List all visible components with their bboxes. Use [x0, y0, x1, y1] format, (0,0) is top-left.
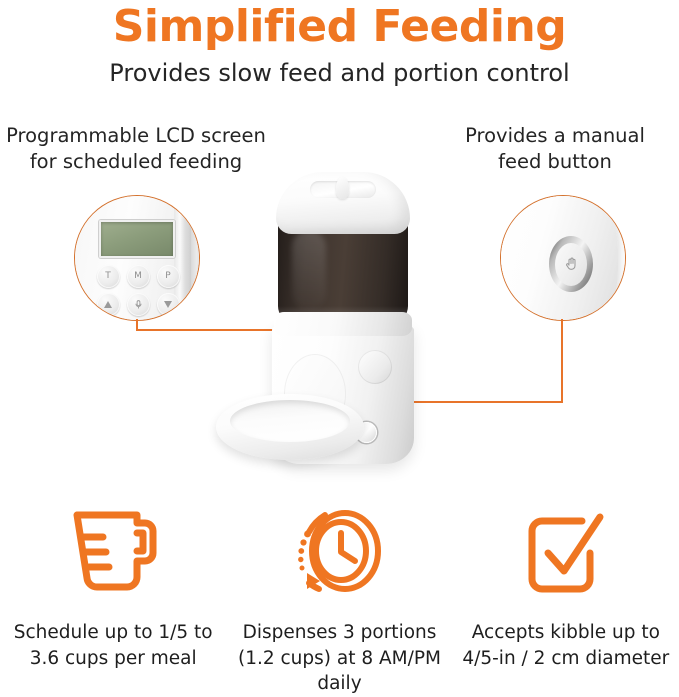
page-subtitle: Provides slow feed and portion control: [0, 50, 679, 88]
feature-caption-dispense: Dispenses 3 portions (1.2 cups) at 8 AM/…: [226, 620, 452, 697]
device-panel-edge-secondary: [191, 196, 197, 320]
product-collar: [274, 312, 412, 336]
hopper-highlight: [292, 230, 326, 310]
feature-item-dispense: Dispenses 3 portions (1.2 cups) at 8 AM/…: [226, 496, 452, 697]
zoom-circle-lcd-screen: T M P: [74, 195, 200, 321]
microphone-icon: [133, 299, 144, 310]
up-key[interactable]: [97, 293, 120, 316]
page-title: Simplified Feeding: [0, 0, 679, 50]
lcd-display: [99, 220, 175, 258]
product-lid: [276, 172, 410, 234]
manual-feed-button-face[interactable]: [555, 243, 587, 286]
header: Simplified Feeding Provides slow feed an…: [0, 0, 679, 88]
feature-caption-schedule: Schedule up to 1/5 to 3.6 cups per meal: [14, 620, 213, 671]
manual-feed-button-ring[interactable]: [549, 236, 593, 292]
control-keypad: T M P: [93, 262, 183, 318]
lcd-closeup-scene: T M P: [75, 196, 199, 320]
feature-row: Schedule up to 1/5 to 3.6 cups per meal: [0, 496, 679, 697]
triangle-down-icon: [164, 301, 172, 308]
zoom-circle-manual-feed-button: [500, 195, 626, 321]
play-key[interactable]: P: [157, 265, 180, 288]
product-food-bowl: [216, 394, 364, 460]
callout-label-manual-feed-button: Provides a manual feed button: [440, 123, 670, 174]
mode-key[interactable]: M: [127, 265, 150, 288]
record-key[interactable]: [127, 293, 150, 316]
triangle-up-icon: [104, 301, 112, 308]
product-lid-notch: [336, 177, 349, 199]
product-food-bowl-basin: [230, 400, 350, 442]
feature-item-kibble: Accepts kibble up to 4/5-in / 2 cm diame…: [453, 496, 679, 697]
down-key[interactable]: [157, 293, 180, 316]
product-food-hopper: [278, 220, 408, 322]
checkbox-check-icon: [514, 496, 618, 606]
clock-cycle-icon: [287, 496, 391, 606]
hand-press-icon: [563, 256, 579, 272]
connector-line-button-vertical: [561, 319, 563, 403]
manual-button-closeup-scene: [501, 196, 625, 320]
callout-label-lcd-screen: Programmable LCD screen for scheduled fe…: [0, 123, 272, 174]
timer-key[interactable]: T: [97, 265, 120, 288]
feature-caption-kibble: Accepts kibble up to 4/5-in / 2 cm diame…: [462, 620, 669, 671]
measuring-cup-icon: [61, 496, 165, 606]
product-image-automatic-pet-feeder: [208, 172, 468, 472]
feature-item-schedule: Schedule up to 1/5 to 3.6 cups per meal: [0, 496, 226, 697]
product-base-knob: [358, 350, 392, 384]
